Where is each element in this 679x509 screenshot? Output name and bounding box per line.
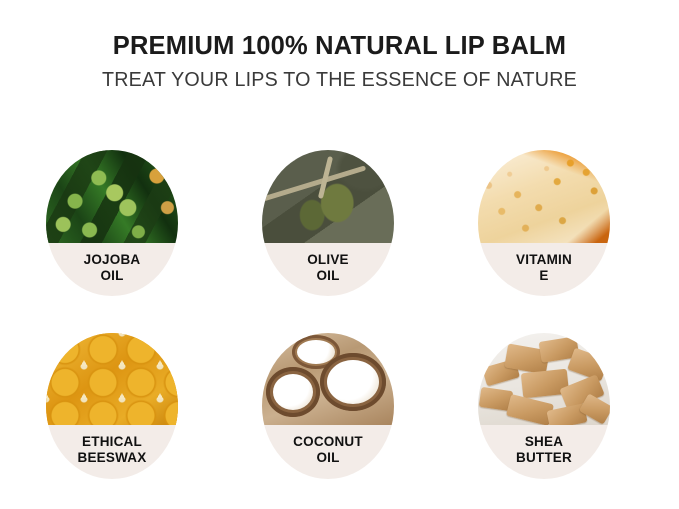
ingredient-label-line1: COCONUT	[293, 434, 363, 450]
vitamin-e-oil-texture	[478, 150, 610, 243]
jojoba-oil-photo	[46, 150, 178, 243]
ingredient-tile-shea-butter: SHEA BUTTER	[478, 333, 610, 479]
ingredient-label-line2: BUTTER	[516, 450, 572, 466]
coconut-piece	[266, 367, 320, 417]
ingredient-circle: VITAMIN E	[478, 150, 610, 296]
ingredient-grid: JOJOBA OIL OLIVE OIL VITAMIN E	[46, 150, 632, 479]
ingredient-label: JOJOBA OIL	[46, 243, 178, 296]
ingredient-circle: OLIVE OIL	[262, 150, 394, 296]
ingredient-label: OLIVE OIL	[262, 243, 394, 296]
ingredient-label-line2: OIL	[316, 450, 339, 466]
ingredient-label: COCONUT OIL	[262, 425, 394, 479]
ingredient-label: VITAMIN E	[478, 243, 610, 296]
honeycomb-texture	[46, 333, 178, 425]
olive-oil-photo	[262, 150, 394, 243]
ingredient-label-line2: OIL	[316, 268, 339, 284]
ingredient-tile-olive-oil: OLIVE OIL	[262, 150, 394, 296]
ingredient-label-line2: BEESWAX	[78, 450, 147, 466]
coconut-piece	[320, 353, 386, 411]
shea-chunks-texture	[478, 333, 610, 425]
ethical-beeswax-photo	[46, 333, 178, 425]
ingredient-label-line1: SHEA	[525, 434, 563, 450]
header: PREMIUM 100% NATURAL LIP BALM TREAT YOUR…	[0, 0, 679, 91]
ingredient-label: SHEA BUTTER	[478, 425, 610, 479]
ingredient-label-line1: JOJOBA	[84, 252, 141, 268]
ingredient-label-line1: ETHICAL	[82, 434, 142, 450]
ingredient-label-line2: OIL	[100, 268, 123, 284]
ingredient-tile-coconut-oil: COCONUT OIL	[262, 333, 394, 479]
coconut-oil-photo	[262, 333, 394, 425]
ingredient-label-line2: E	[539, 268, 548, 284]
olive-branch-texture	[262, 150, 394, 243]
page-title: PREMIUM 100% NATURAL LIP BALM	[0, 33, 679, 60]
vitamin-e-photo	[478, 150, 610, 243]
ingredient-label: ETHICAL BEESWAX	[46, 425, 178, 479]
ingredient-circle: SHEA BUTTER	[478, 333, 610, 479]
ingredient-tile-jojoba-oil: JOJOBA OIL	[46, 150, 178, 296]
ingredient-circle: COCONUT OIL	[262, 333, 394, 479]
ingredient-tile-ethical-beeswax: ETHICAL BEESWAX	[46, 333, 178, 479]
shea-butter-photo	[478, 333, 610, 425]
jojoba-plant-texture	[46, 150, 178, 243]
ingredient-tile-vitamin-e: VITAMIN E	[478, 150, 610, 296]
coconut-halves-texture	[262, 333, 394, 425]
page-subtitle: TREAT YOUR LIPS TO THE ESSENCE OF NATURE	[5, 70, 674, 91]
ingredient-circle: JOJOBA OIL	[46, 150, 178, 296]
ingredient-label-line1: OLIVE	[307, 252, 349, 268]
ingredient-circle: ETHICAL BEESWAX	[46, 333, 178, 479]
ingredient-label-line1: VITAMIN	[516, 252, 572, 268]
